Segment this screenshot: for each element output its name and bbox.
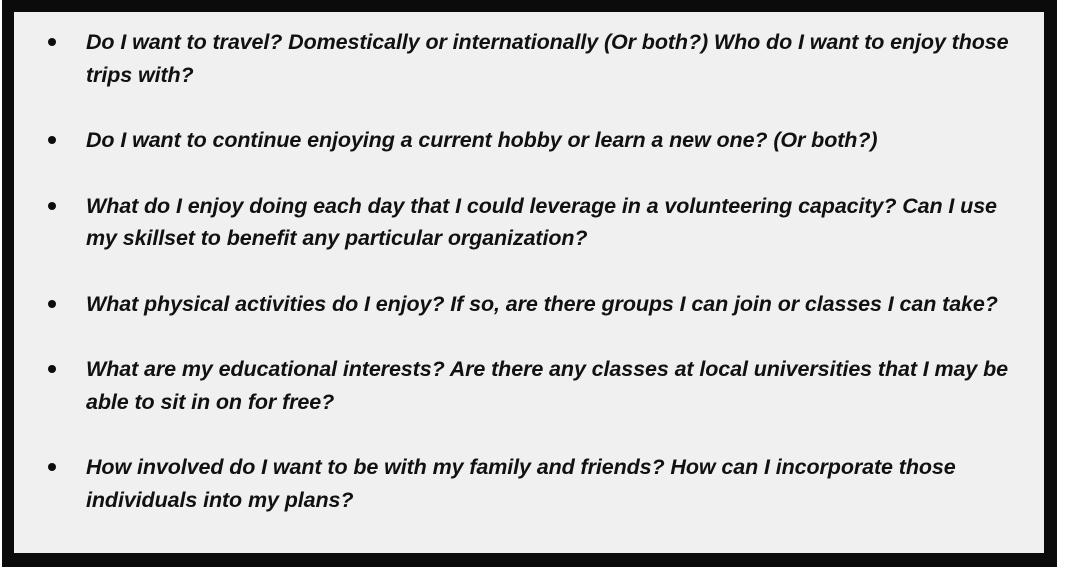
question-list-panel: Do I want to travel? Domestically or int… (14, 12, 1044, 553)
bullet-point-icon (48, 463, 56, 471)
bullet-point-icon (48, 365, 56, 373)
bullet-point-icon (48, 38, 56, 46)
bordered-content-box: Do I want to travel? Domestically or int… (2, 0, 1057, 567)
list-item: What physical activities do I enjoy? If … (14, 288, 1030, 321)
question-text: How involved do I want to be with my fam… (86, 451, 1030, 516)
list-item: How involved do I want to be with my fam… (14, 451, 1030, 516)
list-item: Do I want to travel? Domestically or int… (14, 26, 1030, 91)
question-text: What are my educational interests? Are t… (86, 353, 1030, 418)
list-item: What are my educational interests? Are t… (14, 353, 1030, 418)
list-item: Do I want to continue enjoying a current… (14, 124, 1030, 157)
question-text: Do I want to continue enjoying a current… (86, 124, 1030, 157)
question-list: Do I want to travel? Domestically or int… (14, 26, 1030, 516)
question-text: Do I want to travel? Domestically or int… (86, 26, 1030, 91)
question-text: What physical activities do I enjoy? If … (86, 288, 1030, 321)
bullet-point-icon (48, 202, 56, 210)
list-item: What do I enjoy doing each day that I co… (14, 190, 1030, 255)
question-text: What do I enjoy doing each day that I co… (86, 190, 1030, 255)
bullet-point-icon (48, 300, 56, 308)
page-canvas: Do I want to travel? Domestically or int… (0, 0, 1069, 577)
bullet-point-icon (48, 136, 56, 144)
